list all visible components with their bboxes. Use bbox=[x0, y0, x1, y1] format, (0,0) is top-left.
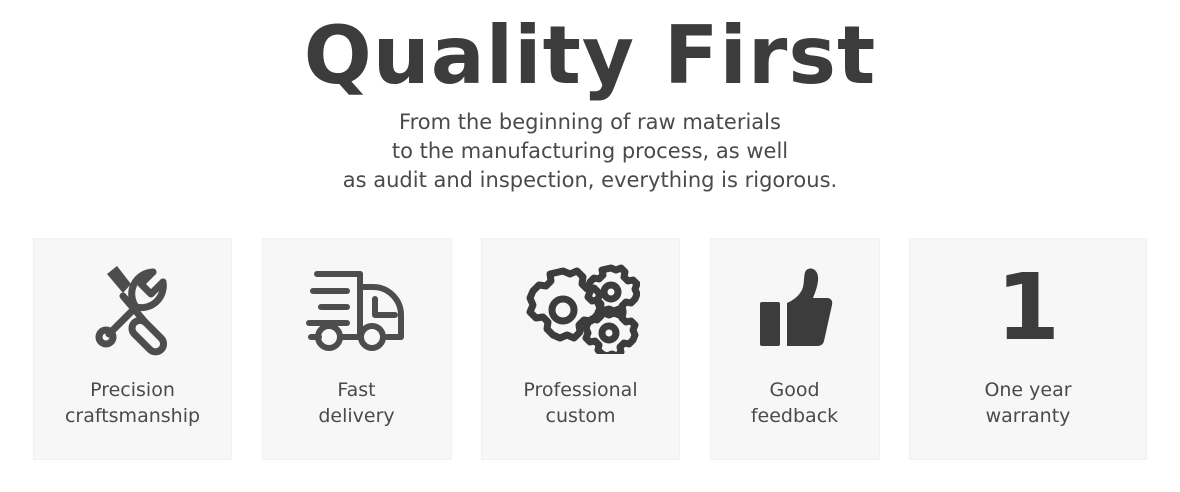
header: Quality First From the beginning of raw … bbox=[0, 0, 1180, 195]
gears-icon bbox=[522, 239, 640, 377]
feature-card-precision-craftsmanship: Precision craftsmanship bbox=[33, 238, 232, 460]
feature-card-label: Precision craftsmanship bbox=[65, 377, 200, 429]
label-line-2: delivery bbox=[318, 403, 394, 429]
subtitle-line-3: as audit and inspection, everything is r… bbox=[0, 166, 1180, 195]
label-line-2: feedback bbox=[751, 403, 838, 429]
number-one-icon: 1 bbox=[996, 239, 1060, 377]
feature-card-label: Professional custom bbox=[523, 377, 637, 429]
label-line-1: Professional bbox=[523, 377, 637, 403]
feature-card-label: Good feedback bbox=[751, 377, 838, 429]
subtitle-line-2: to the manufacturing process, as well bbox=[0, 137, 1180, 166]
label-line-1: One year bbox=[984, 377, 1071, 403]
delivery-truck-icon bbox=[303, 239, 411, 377]
quality-first-banner: Quality First From the beginning of raw … bbox=[0, 0, 1180, 492]
label-line-2: custom bbox=[523, 403, 637, 429]
tools-icon bbox=[83, 239, 183, 377]
label-line-2: warranty bbox=[984, 403, 1071, 429]
thumbs-up-icon bbox=[756, 239, 834, 377]
feature-card-label: Fast delivery bbox=[318, 377, 394, 429]
feature-card-label: One year warranty bbox=[984, 377, 1071, 429]
feature-card-list: Precision craftsmanship bbox=[33, 238, 1147, 460]
label-line-2: craftsmanship bbox=[65, 403, 200, 429]
feature-card-one-year-warranty: 1 One year warranty bbox=[909, 238, 1147, 460]
subtitle: From the beginning of raw materials to t… bbox=[0, 99, 1180, 195]
label-line-1: Good bbox=[751, 377, 838, 403]
feature-card-good-feedback: Good feedback bbox=[710, 238, 880, 460]
subtitle-line-1: From the beginning of raw materials bbox=[0, 108, 1180, 137]
page-title: Quality First bbox=[0, 0, 1180, 99]
feature-card-professional-custom: Professional custom bbox=[481, 238, 680, 460]
feature-card-fast-delivery: Fast delivery bbox=[262, 238, 452, 460]
warranty-number: 1 bbox=[996, 262, 1060, 354]
label-line-1: Precision bbox=[65, 377, 200, 403]
label-line-1: Fast bbox=[318, 377, 394, 403]
